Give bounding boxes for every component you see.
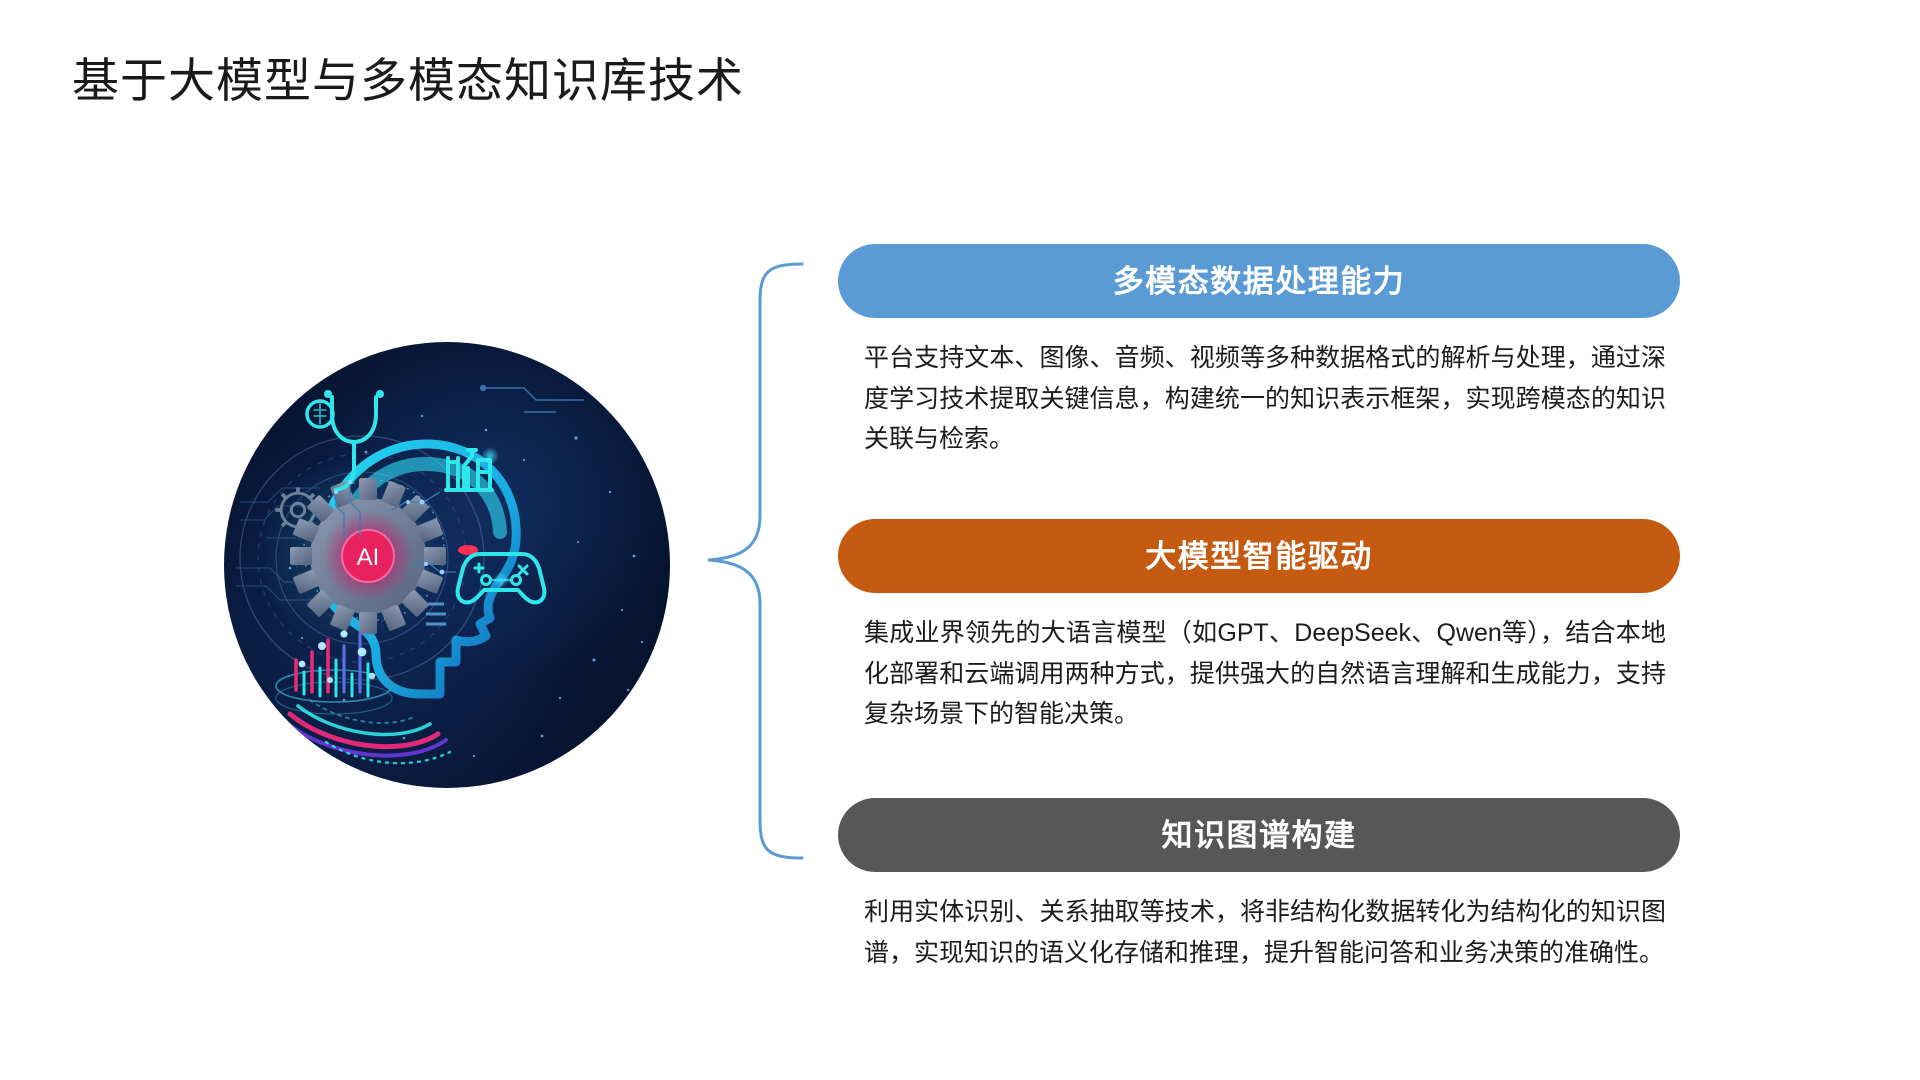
card-header-label: 多模态数据处理能力 bbox=[1113, 266, 1406, 297]
card-header-label: 知识图谱构建 bbox=[1162, 820, 1357, 851]
card-header-knowledge-graph[interactable]: 知识图谱构建 bbox=[838, 798, 1680, 872]
ai-badge-text: AI bbox=[357, 544, 380, 571]
card-body-text: 集成业界领先的大语言模型（如GPT、DeepSeek、Qwen等），结合本地化部… bbox=[838, 613, 1680, 735]
feature-card: 知识图谱构建 利用实体识别、关系抽取等技术，将非结构化数据转化为结构化的知识图谱… bbox=[838, 798, 1680, 973]
feature-card: 多模态数据处理能力 平台支持文本、图像、音频、视频等多种数据格式的解析与处理，通… bbox=[838, 244, 1680, 460]
card-header-label: 大模型智能驱动 bbox=[1145, 541, 1373, 572]
feature-card: 大模型智能驱动 集成业界领先的大语言模型（如GPT、DeepSeek、Qwen等… bbox=[838, 519, 1680, 735]
card-body-text: 利用实体识别、关系抽取等技术，将非结构化数据转化为结构化的知识图谱，实现知识的语… bbox=[838, 892, 1680, 973]
curly-brace-connector bbox=[690, 258, 820, 864]
page-title: 基于大模型与多模态知识库技术 bbox=[72, 52, 744, 111]
ai-brain-circle-illustration: AI bbox=[224, 342, 670, 788]
card-body-text: 平台支持文本、图像、音频、视频等多种数据格式的解析与处理，通过深度学习技术提取关… bbox=[838, 338, 1680, 460]
circuit-traces bbox=[480, 385, 584, 412]
card-header-llm-driven[interactable]: 大模型智能驱动 bbox=[838, 519, 1680, 593]
card-header-multimodal[interactable]: 多模态数据处理能力 bbox=[838, 244, 1680, 318]
slide-canvas: 基于大模型与多模态知识库技术 bbox=[0, 0, 1920, 1080]
